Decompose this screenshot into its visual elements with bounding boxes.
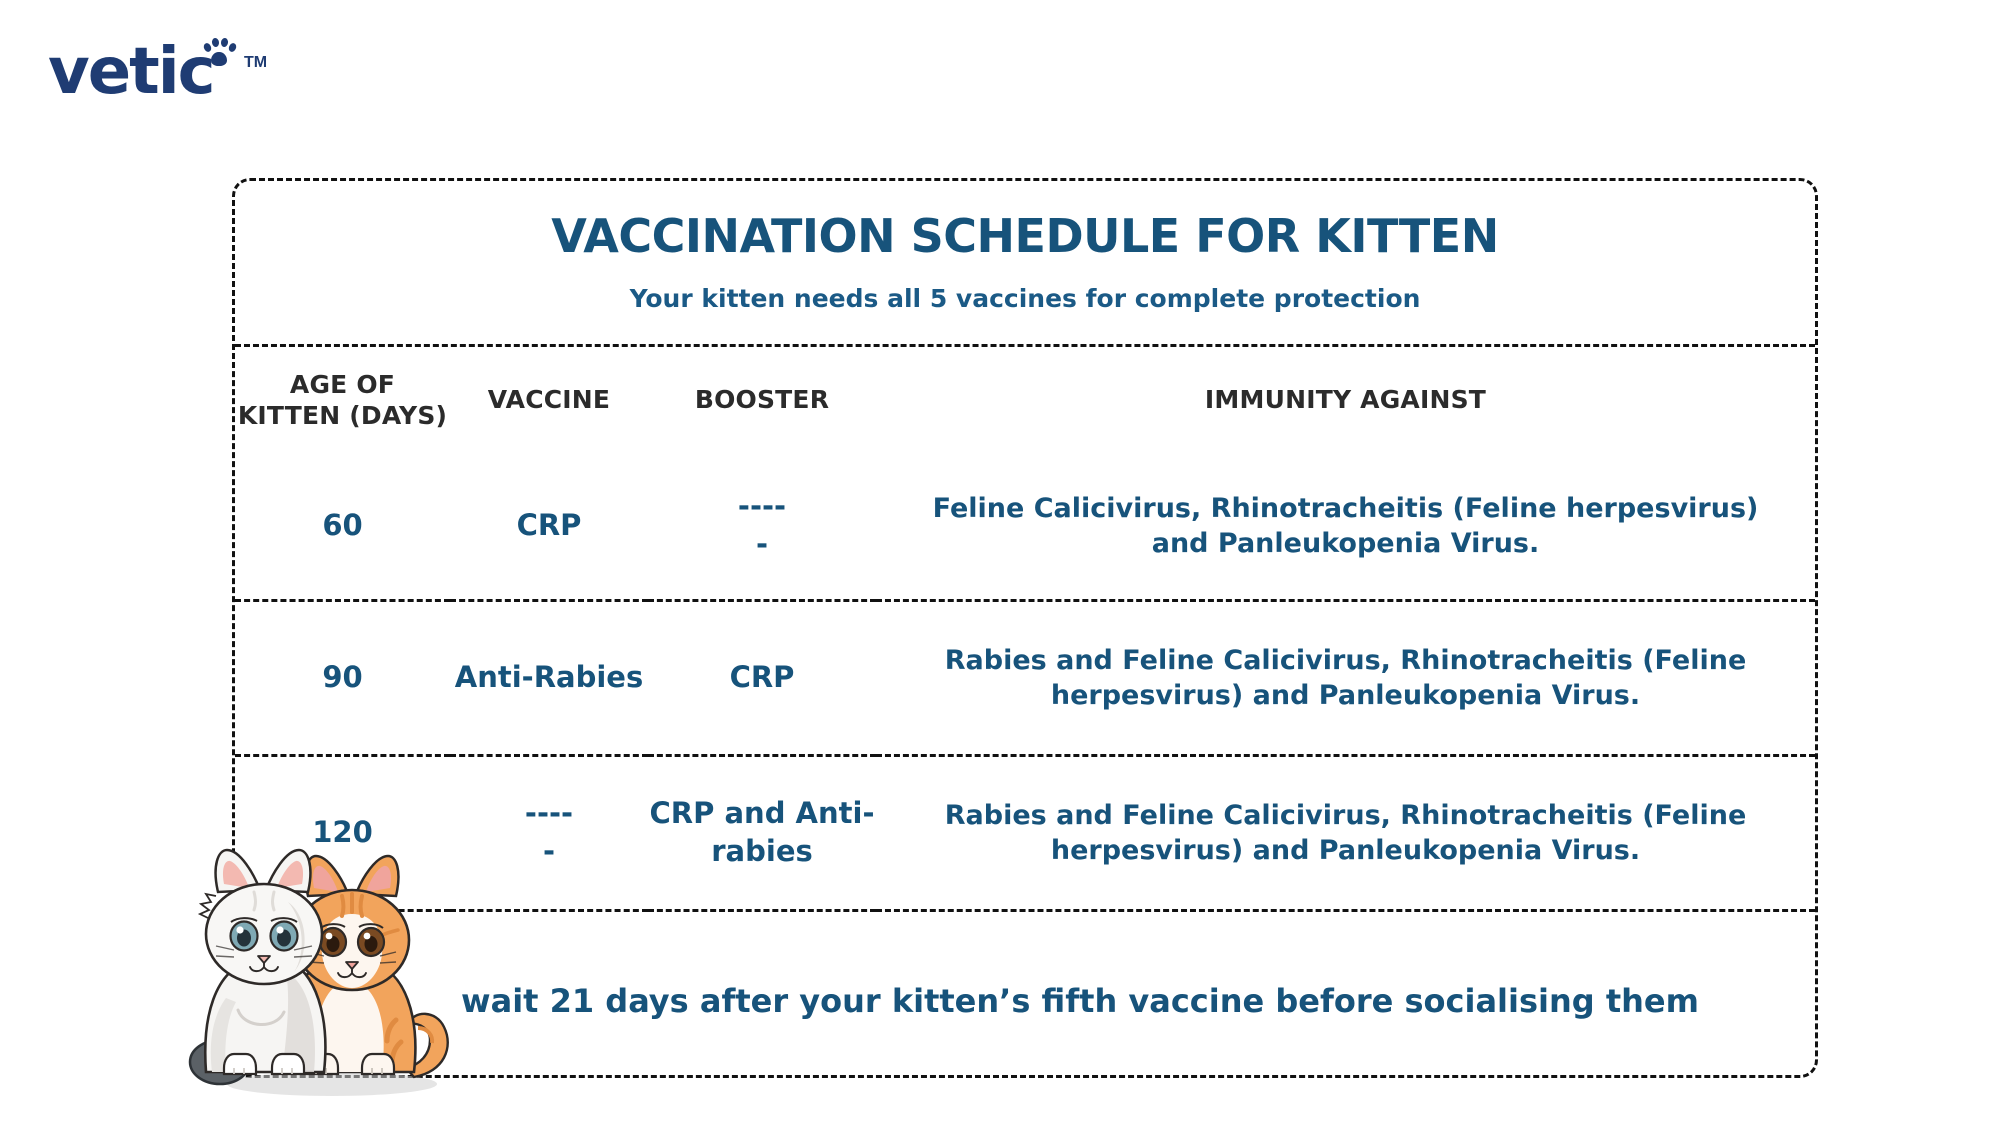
- table-body: 60 CRP ----- Feline Calicivirus, Rhinotr…: [235, 453, 1815, 1092]
- logo-wordmark: vetic: [48, 40, 214, 104]
- cell-immunity: Rabies and Feline Calicivirus, Rhinotrac…: [876, 601, 1815, 756]
- cell-booster: CRP: [648, 601, 876, 756]
- paw-pad: [211, 52, 227, 66]
- table-row: 120 ----- CRP and Anti-rabies Rabies and…: [235, 756, 1815, 911]
- column-header-booster: BOOSTER: [648, 347, 876, 453]
- head-fluff: [200, 894, 216, 918]
- column-header-immunity: IMMUNITY AGAINST: [876, 347, 1815, 453]
- cell-age: 90: [235, 601, 450, 756]
- paw-toe: [211, 38, 219, 48]
- cell-vaccine: CRP: [450, 453, 648, 601]
- cell-booster: -----: [648, 453, 876, 601]
- page-title: VACCINATION SCHEDULE FOR KITTEN: [235, 181, 1815, 262]
- vaccination-table: AGE OF KITTEN (DAYS) VACCINE BOOSTER IMM…: [235, 347, 1815, 1092]
- cell-immunity: Rabies and Feline Calicivirus, Rhinotrac…: [876, 756, 1815, 911]
- table-header-row: AGE OF KITTEN (DAYS) VACCINE BOOSTER IMM…: [235, 347, 1815, 453]
- cell-age: 120: [235, 756, 450, 911]
- paw-print-icon: [200, 34, 240, 68]
- column-header-age: AGE OF KITTEN (DAYS): [235, 347, 450, 453]
- cell-booster: CRP and Anti-rabies: [648, 756, 876, 911]
- paw-toe: [227, 42, 237, 53]
- table-footer-row: wait 21 days after your kitten’s fifth v…: [235, 911, 1815, 1093]
- paw-toe: [220, 38, 228, 48]
- cell-vaccine: -----: [450, 756, 648, 911]
- trademark-symbol: TM: [244, 54, 267, 72]
- paw-toe: [202, 42, 212, 53]
- table-row: 90 Anti-Rabies CRP Rabies and Feline Cal…: [235, 601, 1815, 756]
- cell-vaccine: Anti-Rabies: [450, 601, 648, 756]
- cell-age: 60: [235, 453, 450, 601]
- cell-vaccine-value: -----: [519, 795, 579, 870]
- page-subtitle: Your kitten needs all 5 vaccines for com…: [235, 262, 1815, 314]
- vetic-logo: vetic TM: [48, 28, 298, 118]
- column-header-vaccine: VACCINE: [450, 347, 648, 453]
- cell-booster-value: -----: [732, 488, 792, 563]
- table-header: AGE OF KITTEN (DAYS) VACCINE BOOSTER IMM…: [235, 347, 1815, 453]
- cell-immunity: Feline Calicivirus, Rhinotracheitis (Fel…: [876, 453, 1815, 601]
- table-row: 60 CRP ----- Feline Calicivirus, Rhinotr…: [235, 453, 1815, 601]
- footer-note: wait 21 days after your kitten’s fifth v…: [235, 911, 1815, 1093]
- card-header: VACCINATION SCHEDULE FOR KITTEN Your kit…: [235, 181, 1815, 347]
- vaccination-schedule-card: VACCINATION SCHEDULE FOR KITTEN Your kit…: [232, 178, 1818, 1078]
